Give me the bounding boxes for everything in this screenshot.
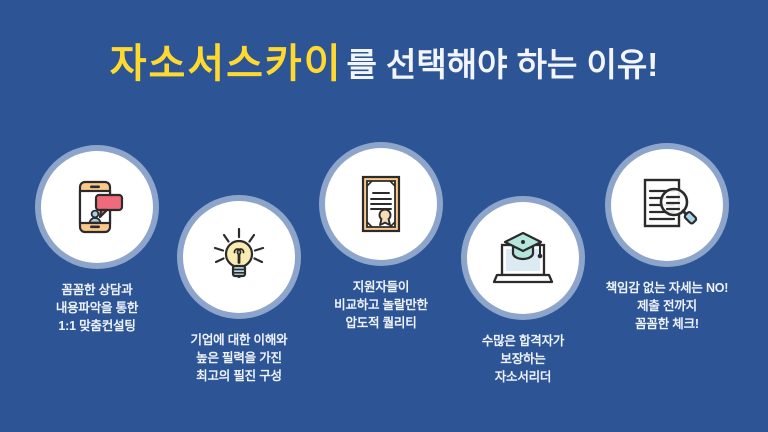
certificate-award-icon	[348, 171, 414, 237]
smartphone-chat-icon	[64, 174, 130, 240]
caption-line: 보장하는	[448, 350, 598, 368]
feature-caption: 수많은 합격자가 보장하는 자소서리더	[448, 332, 598, 386]
document-magnifier-icon	[633, 172, 701, 238]
caption-line: 내용파악을 통한	[22, 299, 172, 317]
circle-body	[325, 148, 437, 260]
caption-line: 수많은 합격자가	[448, 332, 598, 350]
feature-circle	[177, 195, 301, 319]
caption-line: 꼼꼼한 상담과	[22, 281, 172, 299]
caption-line: 최고의 필진 구성	[164, 367, 314, 385]
circle-body	[611, 149, 723, 261]
feature-circle	[605, 143, 729, 267]
feature-caption: 책임감 없는 자세는 NO! 제출 전까지 꼼꼼한 체크!	[592, 279, 742, 333]
page-title: 자소서스카이를 선택해야 하는 이유!	[0, 44, 768, 84]
circle-body	[467, 202, 579, 314]
promo-slide: 자소서스카이를 선택해야 하는 이유!	[0, 0, 768, 432]
feature-item-quality[interactable]: 지원자들이 비교하고 놀랄만한 압도적 퀄리티	[306, 142, 456, 332]
caption-line: 높은 필력을 가진	[164, 349, 314, 367]
feature-circle	[319, 142, 443, 266]
feature-caption: 기업에 대한 이해와 높은 필력을 가진 최고의 필진 구성	[164, 331, 314, 385]
feature-item-consulting[interactable]: 꼼꼼한 상담과 내용파악을 통한 1:1 맞춤컨설팅	[22, 145, 172, 335]
caption-line: 기업에 대한 이해와	[164, 331, 314, 349]
caption-line: 제출 전까지	[592, 297, 742, 315]
caption-line: 비교하고 놀랄만한	[306, 296, 456, 314]
feature-item-check[interactable]: 책임감 없는 자세는 NO! 제출 전까지 꼼꼼한 체크!	[592, 143, 742, 333]
caption-line: 1:1 맞춤컨설팅	[22, 317, 172, 335]
circle-body	[41, 151, 153, 263]
feature-circle	[461, 196, 585, 320]
feature-item-writers[interactable]: 기업에 대한 이해와 높은 필력을 가진 최고의 필진 구성	[164, 195, 314, 385]
circle-body	[183, 201, 295, 313]
caption-line: 꼼꼼한 체크!	[592, 315, 742, 333]
feature-caption: 꼼꼼한 상담과 내용파악을 통한 1:1 맞춤컨설팅	[22, 281, 172, 335]
title-brand-text: 자소서스카이	[110, 42, 343, 86]
title-rest-text: 를 선택해야 하는 이유!	[347, 46, 659, 83]
caption-line: 책임감 없는 자세는 NO!	[592, 279, 742, 297]
feature-circle	[35, 145, 159, 269]
caption-line: 지원자들이	[306, 278, 456, 296]
caption-line: 자소서리더	[448, 368, 598, 386]
lightbulb-idea-icon	[206, 224, 272, 290]
feature-item-leader[interactable]: 수많은 합격자가 보장하는 자소서리더	[448, 196, 598, 386]
laptop-graduation-cap-icon	[488, 225, 558, 291]
caption-line: 압도적 퀄리티	[306, 314, 456, 332]
feature-caption: 지원자들이 비교하고 놀랄만한 압도적 퀄리티	[306, 278, 456, 332]
